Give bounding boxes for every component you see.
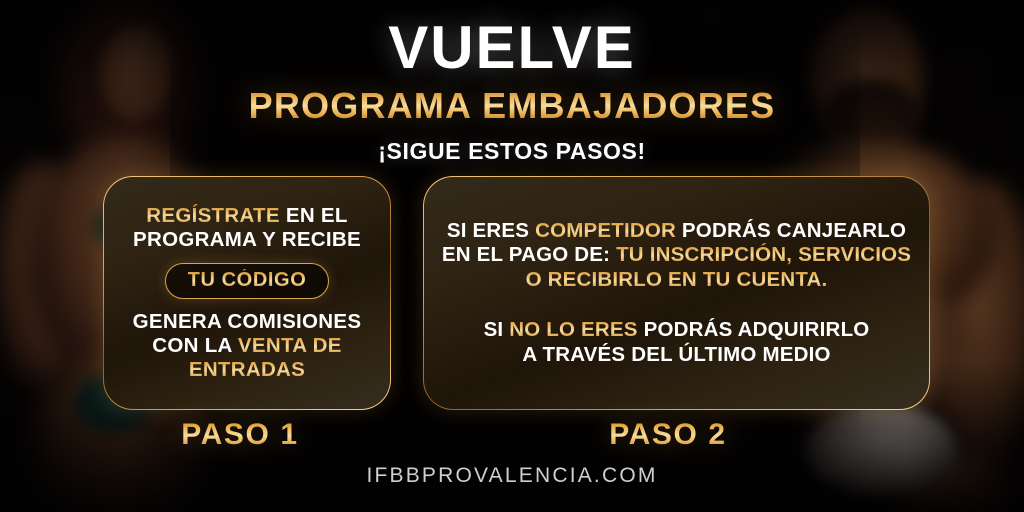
code-pill: TU CÓDIGO	[165, 263, 330, 299]
tickets-highlight: ENTRADAS	[189, 358, 305, 381]
sales-highlight: VENTA DE	[238, 334, 342, 357]
step-1-intro-tail: EN EL	[280, 204, 348, 227]
step-1-card: REGÍSTRATE EN EL PROGRAMA Y RECIBE TU CÓ…	[103, 176, 391, 410]
promo-poster: VUELVE PROGRAMA EMBAJADORES ¡SIGUE ESTOS…	[0, 0, 1024, 512]
step-2-paragraph-2: SI NO LO ERES PODRÁS ADQUIRIRLO A TRAVÉS…	[484, 318, 870, 367]
commission-line1: GENERA COMISIONES	[133, 310, 362, 333]
program-subtitle: PROGRAMA EMBAJADORES	[0, 88, 1024, 124]
payment-options-highlight: TU INSCRIPCIÓN, SERVICIOS	[616, 243, 911, 266]
non-competitor-highlight: NO LO ERES	[509, 318, 637, 341]
page-title: VUELVE	[0, 18, 1024, 78]
step-2-label: PASO 2	[568, 420, 768, 450]
competitor-highlight: COMPETIDOR	[535, 219, 676, 242]
competitor-suffix: PODRÁS CANJEARLO	[676, 219, 906, 242]
tagline: ¡SIGUE ESTOS PASOS!	[0, 138, 1024, 166]
non-competitor-line2: A TRAVÉS DEL ÚLTIMO MEDIO	[522, 343, 830, 366]
step-1-label: PASO 1	[140, 420, 340, 450]
step-2-card: SI ERES COMPETIDOR PODRÁS CANJEARLO EN E…	[423, 176, 930, 410]
website-url: IFBBPROVALENCIA.COM	[0, 464, 1024, 488]
non-competitor-suffix: PODRÁS ADQUIRIRLO	[638, 318, 870, 341]
step-1-intro-line2: PROGRAMA Y RECIBE	[133, 228, 361, 251]
step-2-paragraph-1: SI ERES COMPETIDOR PODRÁS CANJEARLO EN E…	[442, 219, 911, 293]
payment-prefix: EN EL PAGO DE:	[442, 243, 616, 266]
code-pill-label: TU CÓDIGO	[188, 269, 307, 291]
register-highlight: REGÍSTRATE	[146, 204, 280, 227]
account-option-highlight: O RECIBIRLO EN TU CUENTA.	[526, 268, 828, 291]
non-competitor-prefix: SI	[484, 318, 510, 341]
competitor-prefix: SI ERES	[447, 219, 535, 242]
step-1-intro: REGÍSTRATE EN EL PROGRAMA Y RECIBE	[133, 204, 361, 252]
commission-line2: CON LA	[152, 334, 238, 357]
poster-content: VUELVE PROGRAMA EMBAJADORES ¡SIGUE ESTOS…	[0, 0, 1024, 512]
step-1-commission: GENERA COMISIONES CON LA VENTA DE ENTRAD…	[133, 310, 362, 383]
